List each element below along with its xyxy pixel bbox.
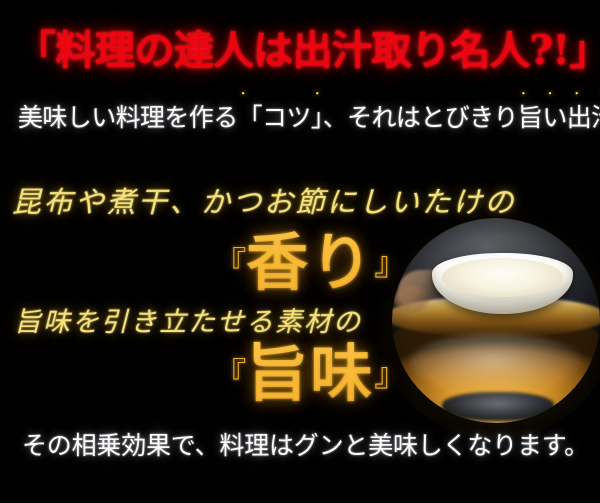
dashi-promo-banner: 「料理の達人は出汁取り名人?!」 美味しい料理を作る「コツ」、それはとびきり旨い… — [0, 0, 600, 503]
open-bracket-icon: 『 — [214, 244, 246, 282]
bowl-broth — [442, 258, 563, 297]
broth-pot — [392, 300, 600, 423]
intro-sentence: 美味しい料理を作る「コツ」、それはとびきり旨い出汁を使う事。 — [18, 105, 600, 130]
photo-glow — [376, 202, 600, 439]
headline: 「料理の達人は出汁取り名人?!」 — [16, 31, 600, 71]
close-bracket-icon: 』 — [374, 244, 406, 282]
close-bracket-icon: 』 — [374, 355, 406, 393]
aroma-lead-line: 昆布や煮干、かつお節にしいたけの — [12, 188, 516, 217]
aroma-keyword: 『香り』 — [214, 232, 407, 294]
umami-keyword: 『旨味』 — [214, 343, 407, 405]
umami-lead-line: 旨味を引き立たせる素材の — [14, 309, 362, 336]
white-bowl — [432, 253, 573, 315]
broth-steam — [409, 333, 584, 395]
intro-segment-2: 、それはとびきり — [323, 103, 518, 132]
aroma-keyword-text: 香り — [246, 226, 374, 299]
umami-keyword-text: 旨味 — [246, 337, 374, 410]
intro-segment-1: 美味しい料理を作る — [18, 103, 238, 132]
photo-disc — [392, 218, 600, 423]
pot-rim-highlight — [392, 296, 600, 337]
closing-sentence: その相乗効果で、料理はグンと美味しくなります。 — [22, 433, 589, 458]
dashi-broth-photo — [392, 218, 600, 423]
intro-emphasis-dashi: 旨い出汁を使う — [518, 103, 600, 132]
intro-emphasis-kotsu: 「コツ」 — [238, 103, 323, 132]
pot-base-shadow — [442, 392, 554, 421]
open-bracket-icon: 『 — [214, 355, 246, 393]
photo-background — [392, 218, 600, 423]
